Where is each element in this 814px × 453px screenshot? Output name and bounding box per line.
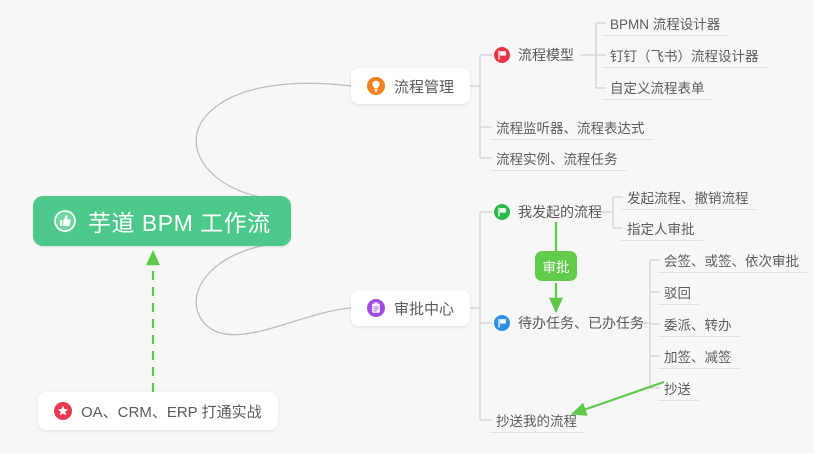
- lightbulb-icon: [367, 77, 385, 95]
- sub-label-todo-done-tasks: 待办任务、已办任务: [518, 313, 644, 333]
- leaf-node-process-listener[interactable]: 流程监听器、流程表达式: [490, 114, 653, 140]
- leaf-node-cc[interactable]: 抄送: [658, 375, 699, 401]
- leaf-node-assigned-approver[interactable]: 指定人审批: [621, 215, 703, 241]
- sub-node-my-started-process[interactable]: 我发起的流程: [490, 198, 608, 226]
- leaf-label-reject: 驳回: [664, 282, 691, 302]
- flag-blue-icon: [494, 315, 510, 331]
- leaf-node-add-remove-sign[interactable]: 加签、减签: [658, 343, 740, 369]
- sub-label-my-started-process: 我发起的流程: [518, 202, 602, 222]
- sub-label-process-model: 流程模型: [518, 45, 574, 65]
- root-label: 芋道 BPM 工作流: [88, 204, 271, 238]
- flow-arrow-cc-to-process: [572, 382, 664, 414]
- star-icon: [54, 402, 72, 420]
- leaf-node-delegate-transfer[interactable]: 委派、转办: [658, 311, 740, 337]
- branch-node-process-management[interactable]: 流程管理: [351, 68, 470, 104]
- leaf-node-cc-to-me[interactable]: 抄送我的流程: [490, 407, 585, 433]
- edge-root-to-approval-center: [196, 243, 351, 335]
- leaf-label-delegate-transfer: 委派、转办: [664, 314, 732, 334]
- leaf-label-start-cancel-process: 发起流程、撤销流程: [627, 187, 749, 207]
- leaf-label-add-remove-sign: 加签、减签: [664, 346, 732, 366]
- flag-green-icon: [494, 204, 510, 220]
- approval-tag-label: 审批: [543, 256, 570, 276]
- leaf-node-countersign[interactable]: 会签、或签、依次审批: [658, 247, 807, 273]
- leaf-label-process-instance: 流程实例、流程任务: [496, 148, 618, 168]
- leaf-label-bpmn-designer: BPMN 流程设计器: [610, 13, 720, 33]
- flag-red-icon: [494, 47, 510, 63]
- bottom-note-node[interactable]: OA、CRM、ERP 打通实战: [38, 392, 278, 430]
- mindmap-canvas: 芋道 BPM 工作流 OA、CRM、ERP 打通实战 流程管理: [0, 0, 814, 453]
- clipboard-icon: [367, 299, 385, 317]
- leaf-label-countersign: 会签、或签、依次审批: [664, 250, 799, 270]
- root-node[interactable]: 芋道 BPM 工作流: [33, 196, 291, 246]
- branch-label-process-management: 流程管理: [394, 76, 454, 97]
- sub-node-process-model[interactable]: 流程模型: [490, 41, 580, 69]
- branch-label-approval-center: 审批中心: [394, 298, 454, 319]
- sub-node-todo-done-tasks[interactable]: 待办任务、已办任务: [490, 309, 650, 337]
- leaf-label-dingtalk-designer: 钉钉（飞书）流程设计器: [610, 45, 759, 65]
- leaf-node-process-instance[interactable]: 流程实例、流程任务: [490, 145, 626, 171]
- approval-tag-node[interactable]: 审批: [535, 251, 577, 281]
- branch-node-approval-center[interactable]: 审批中心: [351, 290, 470, 326]
- leaf-label-process-listener: 流程监听器、流程表达式: [496, 117, 645, 137]
- leaf-label-cc: 抄送: [664, 378, 691, 398]
- leaf-label-custom-form: 自定义流程表单: [610, 77, 705, 97]
- leaf-node-dingtalk-designer[interactable]: 钉钉（飞书）流程设计器: [604, 42, 767, 68]
- leaf-label-cc-to-me: 抄送我的流程: [496, 410, 577, 430]
- thumbs-up-icon: [53, 209, 77, 233]
- leaf-node-start-cancel-process[interactable]: 发起流程、撤销流程: [621, 184, 757, 210]
- leaf-node-reject[interactable]: 驳回: [658, 279, 699, 305]
- bottom-note-label: OA、CRM、ERP 打通实战: [81, 401, 262, 422]
- edge-root-to-process-management: [196, 83, 351, 200]
- leaf-node-custom-form[interactable]: 自定义流程表单: [604, 74, 713, 100]
- leaf-node-bpmn-designer[interactable]: BPMN 流程设计器: [604, 10, 728, 36]
- leaf-label-assigned-approver: 指定人审批: [627, 218, 695, 238]
